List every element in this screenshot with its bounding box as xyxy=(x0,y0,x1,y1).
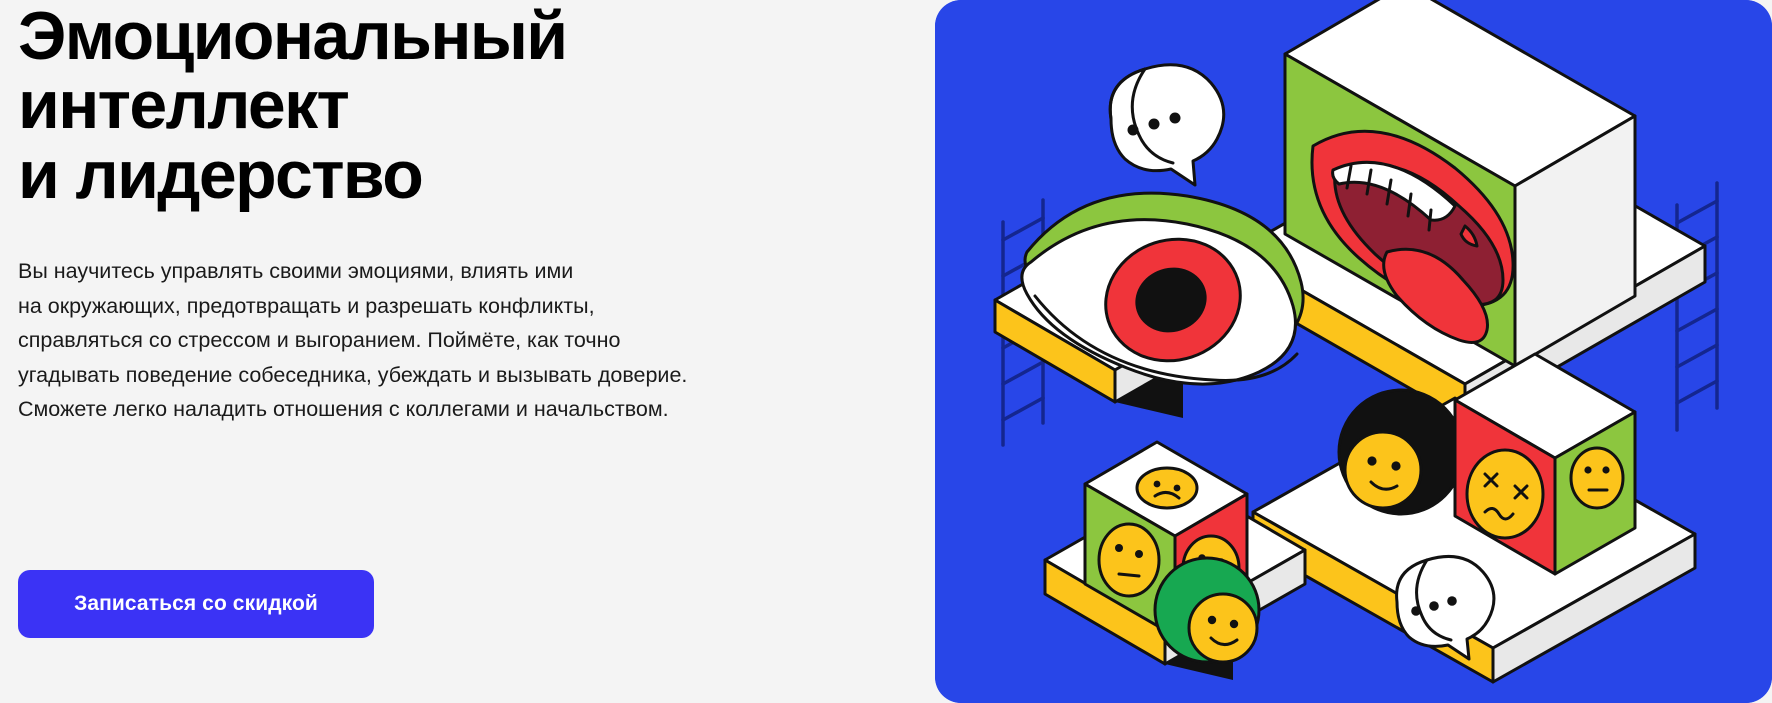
emoji-face-neutral-left xyxy=(1099,524,1159,596)
emoji-face-happy xyxy=(1189,594,1257,662)
page-title-line-3: и лидерство xyxy=(18,141,818,210)
emoji-face-sad-top xyxy=(1137,468,1197,508)
emoji-face-smile xyxy=(1345,432,1421,508)
hero-section: Эмоциональный интеллект и лидерство Вы н… xyxy=(0,0,1772,703)
hero-description: Вы научитесь управлять своими эмоциями, … xyxy=(18,210,848,427)
hero-description-line-2: на окружающих, предотвращать и разрешать… xyxy=(18,289,848,324)
page-title-line-2: интеллект xyxy=(18,71,818,140)
hero-illustration-panel: .st{stroke:#111;stroke-width:3;stroke-li… xyxy=(935,0,1772,703)
hero-description-line-3: справляться со стрессом и выгоранием. По… xyxy=(18,323,848,358)
emoji-face-neutral-right xyxy=(1571,448,1623,508)
enroll-with-discount-button[interactable]: Записаться со скидкой xyxy=(18,570,374,638)
sphere-black-smile xyxy=(1339,390,1463,514)
sphere-green-smile xyxy=(1155,558,1259,662)
hero-description-line-4: угадывать поведение собеседника, убеждат… xyxy=(18,358,848,393)
hero-text-column: Эмоциональный интеллект и лидерство Вы н… xyxy=(0,0,930,703)
hero-description-line-1: Вы научитесь управлять своими эмоциями, … xyxy=(18,254,848,289)
page-title: Эмоциональный интеллект и лидерство xyxy=(18,0,818,210)
isometric-emotions-illustration: .st{stroke:#111;stroke-width:3;stroke-li… xyxy=(935,0,1772,703)
page-title-line-1: Эмоциональный xyxy=(18,2,818,71)
hero-description-line-5: Сможете легко наладить отношения с колле… xyxy=(18,392,848,427)
emoji-face-dizzy xyxy=(1467,450,1543,538)
